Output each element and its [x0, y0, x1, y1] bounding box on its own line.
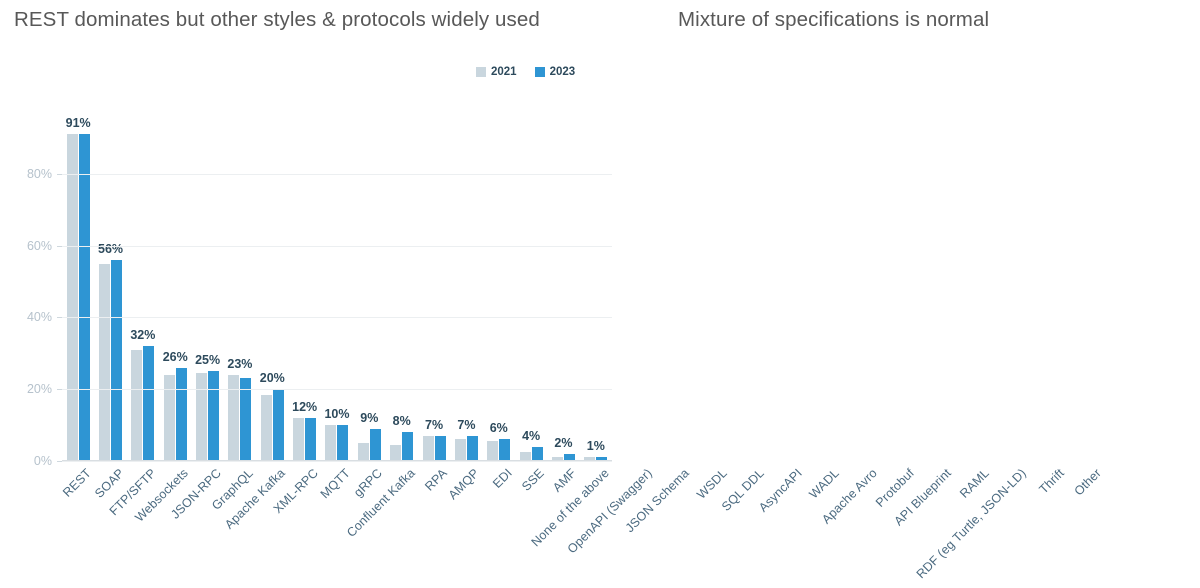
y-axis-tick-label: 0%	[34, 454, 52, 468]
bar-2021[interactable]	[487, 441, 498, 461]
legend-label: 2021	[491, 66, 517, 78]
bar-value-label: 23%	[227, 357, 252, 371]
dual-bar-chart-page: REST dominates but other styles & protoc…	[0, 0, 1200, 588]
legend-left: 2021 2023	[476, 66, 575, 78]
bar-2021[interactable]	[131, 350, 142, 461]
bar-2021[interactable]	[261, 395, 272, 461]
x-axis-category-label: WSDL	[694, 466, 730, 502]
bar-2023[interactable]	[79, 134, 90, 461]
bar-value-label: 6%	[490, 421, 508, 435]
bar-value-label: 20%	[260, 371, 285, 385]
bar-value-label: 32%	[130, 328, 155, 342]
bar-group[interactable]: 9%	[353, 120, 385, 461]
legend-item-2023[interactable]: 2023	[535, 66, 576, 78]
y-axis-tick-label: 80%	[27, 167, 52, 181]
bar-group[interactable]: 23%	[224, 120, 256, 461]
chart-panel-api-styles: REST dominates but other styles & protoc…	[0, 0, 620, 588]
gridline	[62, 246, 612, 247]
x-axis-category-label: EDI	[490, 466, 515, 491]
bar-group[interactable]: 56%	[94, 120, 126, 461]
bar-2021[interactable]	[390, 445, 401, 461]
y-axis-tick-mark	[57, 174, 62, 175]
bar-series-left: 91%56%32%26%25%23%20%12%10%9%8%7%7%6%4%2…	[62, 120, 612, 461]
legend-label: 2023	[550, 66, 576, 78]
legend-swatch-icon	[476, 67, 486, 77]
page-title-right: Mixture of specifications is normal	[678, 8, 989, 32]
bar-2023[interactable]	[208, 371, 219, 461]
bar-value-label: 26%	[163, 350, 188, 364]
bar-2023[interactable]	[402, 432, 413, 461]
bar-2021[interactable]	[455, 439, 466, 461]
bar-value-label: 25%	[195, 353, 220, 367]
gridline	[62, 461, 612, 462]
bar-2023[interactable]	[467, 436, 478, 461]
bar-group[interactable]: 12%	[288, 120, 320, 461]
bar-value-label: 4%	[522, 429, 540, 443]
page-title-left: REST dominates but other styles & protoc…	[14, 8, 540, 32]
bar-value-label: 91%	[66, 116, 91, 130]
y-axis-tick-label: 20%	[27, 382, 52, 396]
gridline	[62, 389, 612, 390]
bar-2023[interactable]	[532, 447, 543, 461]
bar-group[interactable]: 20%	[256, 120, 288, 461]
y-axis-tick-mark	[57, 389, 62, 390]
bar-group[interactable]: 32%	[127, 120, 159, 461]
x-axis-category-label: AMF	[551, 466, 580, 495]
bar-2021[interactable]	[67, 134, 78, 461]
bar-2023[interactable]	[111, 260, 122, 461]
bar-value-label: 1%	[587, 439, 605, 453]
bar-2023[interactable]	[305, 418, 316, 461]
bar-group[interactable]: 7%	[450, 120, 482, 461]
bar-2023[interactable]	[337, 425, 348, 461]
y-axis-tick-mark	[57, 317, 62, 318]
gridline	[62, 174, 612, 175]
x-axis-category-label: SSE	[519, 466, 547, 494]
bar-2023[interactable]	[176, 368, 187, 461]
y-axis-tick-label: 60%	[27, 239, 52, 253]
bar-2021[interactable]	[325, 425, 336, 461]
bar-2021[interactable]	[358, 443, 369, 461]
bar-group[interactable]: 26%	[159, 120, 191, 461]
bar-value-label: 9%	[360, 411, 378, 425]
bar-2021[interactable]	[196, 373, 207, 461]
bar-group[interactable]: 8%	[386, 120, 418, 461]
bar-group[interactable]: 7%	[418, 120, 450, 461]
bar-2021[interactable]	[99, 264, 110, 461]
bar-value-label: 56%	[98, 242, 123, 256]
y-axis-tick-mark	[57, 461, 62, 462]
x-axis-category-label: RPA	[422, 466, 450, 494]
bar-group[interactable]: 1%	[580, 120, 612, 461]
bar-2023[interactable]	[240, 378, 251, 461]
bar-2021[interactable]	[423, 436, 434, 461]
bar-value-label: 2%	[554, 436, 572, 450]
legend-swatch-icon	[535, 67, 545, 77]
x-axis-category-label: WADL	[807, 466, 842, 501]
x-axis-baseline	[62, 460, 612, 461]
bar-group[interactable]: 4%	[515, 120, 547, 461]
bar-2021[interactable]	[228, 375, 239, 461]
y-axis-tick-label: 40%	[27, 310, 52, 324]
bar-2023[interactable]	[499, 439, 510, 461]
bar-value-label: 7%	[457, 418, 475, 432]
bar-2021[interactable]	[293, 418, 304, 461]
chart-panel-api-specs: Mixture of specifications is normal 2021…	[620, 0, 1200, 588]
gridline	[62, 317, 612, 318]
bar-2023[interactable]	[143, 346, 154, 461]
bar-group[interactable]: 91%	[62, 120, 94, 461]
x-axis-category-label: RAML	[957, 466, 992, 501]
x-axis-category-label: Thrift	[1036, 466, 1066, 496]
bar-group[interactable]: 10%	[321, 120, 353, 461]
x-axis-category-label: MQTT	[318, 466, 353, 501]
bar-group[interactable]: 2%	[547, 120, 579, 461]
bar-2021[interactable]	[164, 375, 175, 461]
bar-value-label: 7%	[425, 418, 443, 432]
x-axis-category-label: REST	[60, 466, 94, 500]
bar-value-label: 12%	[292, 400, 317, 414]
plot-area-left: 91%56%32%26%25%23%20%12%10%9%8%7%7%6%4%2…	[62, 120, 612, 461]
bar-group[interactable]: 6%	[483, 120, 515, 461]
y-axis-tick-mark	[57, 246, 62, 247]
bar-2023[interactable]	[273, 389, 284, 461]
x-axis-category-label: AMQP	[446, 466, 482, 502]
bar-value-label: 8%	[393, 414, 411, 428]
legend-item-2021[interactable]: 2021	[476, 66, 517, 78]
bar-2023[interactable]	[435, 436, 446, 461]
bar-value-label: 10%	[324, 407, 349, 421]
bar-2023[interactable]	[370, 429, 381, 461]
bar-group[interactable]: 25%	[191, 120, 223, 461]
x-axis-category-label: Other	[1072, 466, 1104, 498]
